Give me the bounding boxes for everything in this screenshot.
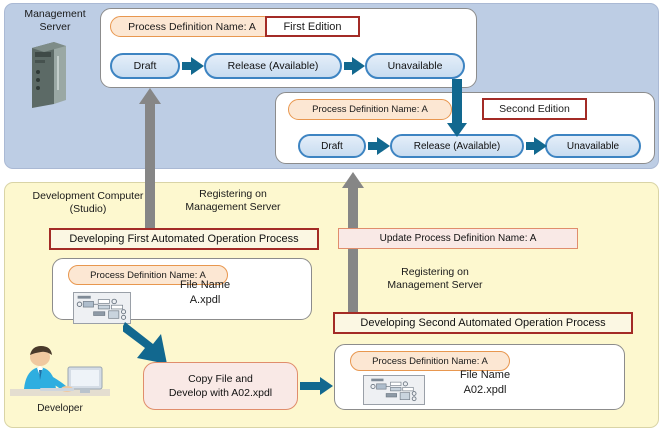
state-unavailable-first: Unavailable [365,53,465,79]
banner-update-process-definition: Update Process Definition Name: A [338,228,578,249]
state-unavailable-second: Unavailable [545,134,641,158]
developer-label: Developer [20,402,100,415]
arrow-copy-file [123,320,183,368]
diagram-canvas: Management Server Process Definition Nam… [0,0,663,432]
copy-file-action-box: Copy File and Develop with A02.xpdl [143,362,298,410]
development-computer-label: Development Computer (Studio) [8,190,168,216]
state-draft-first: Draft [110,53,180,79]
process-definition-name-pill-first: Process Definition Name: A [110,16,274,37]
file-name-value-a: A.xpdl [190,294,221,306]
process-flow-thumbnail-icon-a02 [363,375,425,405]
first-edition-label: First Edition [265,16,360,37]
server-tower-icon [28,38,70,110]
register-first-label: Registering on Management Server [168,188,298,214]
banner-developing-second-process: Developing Second Automated Operation Pr… [333,312,633,334]
banner-developing-first-process: Developing First Automated Operation Pro… [49,228,319,250]
developer-at-desk-icon [10,345,110,403]
second-edition-label: Second Edition [482,98,587,120]
file-name-label-a02: File Name [460,369,510,381]
copy-file-line-1: Copy File and [188,372,253,386]
process-definition-name-pill-second: Process Definition Name: A [288,99,452,120]
copy-file-line-2: Develop with A02.xpdl [169,386,272,400]
file-name-a02: File NameA02.xpdl [430,368,540,398]
state-release-second: Release (Available) [390,134,524,158]
state-draft-second: Draft [298,134,366,158]
file-name-label-a: File Name [180,279,230,291]
file-name-a: File NameA.xpdl [150,278,260,308]
state-release-first: Release (Available) [204,53,342,79]
file-name-value-a02: A02.xpdl [464,384,507,396]
register-second-label: Registering on Management Server [370,266,500,292]
management-server-label: Management Server [14,8,96,34]
